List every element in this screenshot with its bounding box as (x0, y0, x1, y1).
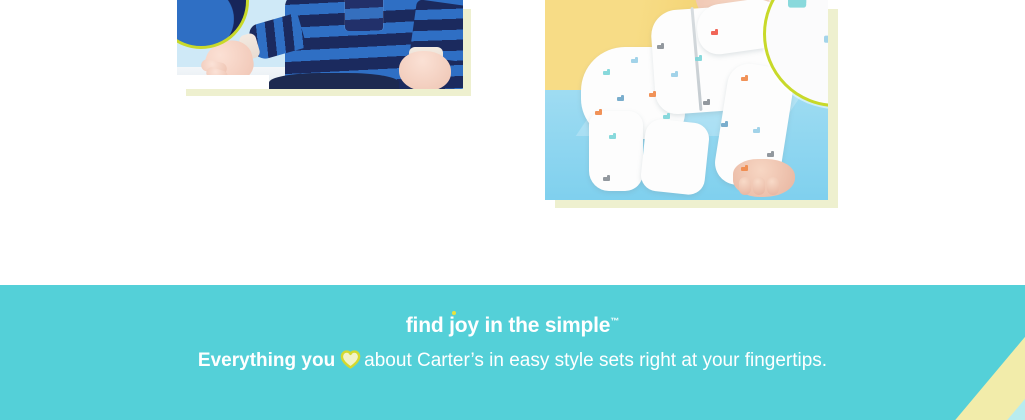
promo-headline: find joy in the simple™ (0, 315, 1025, 336)
baby-hand-right (399, 51, 451, 89)
trademark-symbol: ™ (610, 316, 619, 326)
llama-print-motif (671, 71, 678, 79)
promo-headline-j-letter: j (449, 314, 455, 337)
promo-subline-bold: Everything you (198, 350, 335, 371)
promo-headline-j: j (449, 314, 455, 337)
llama-print-motif (741, 165, 748, 173)
llama-print-motif (721, 121, 728, 129)
promo-subline-rest: about Carter’s in easy style sets right … (364, 350, 827, 371)
llama-print-motif (663, 113, 670, 121)
photo-llama-pajamas[interactable] (545, 0, 828, 200)
llama-print-motif (603, 69, 610, 77)
photo-striped-sweater[interactable] (177, 0, 463, 89)
llama-print-motif (753, 127, 760, 135)
pajama-leg-left (589, 111, 643, 191)
llama-print-motif (711, 29, 718, 37)
llama-print-motif (609, 133, 616, 141)
llama-print-motif (595, 109, 602, 117)
page-root: find joy in the simple™ Everything youab… (0, 0, 1025, 420)
llama-print-motif (617, 95, 624, 103)
llama-print-motif (703, 99, 710, 107)
promo-headline-prefix: find (406, 314, 449, 337)
sweater-pocket (345, 0, 383, 31)
promo-banner-content: find joy in the simple™ Everything youab… (0, 285, 1025, 373)
llama-print-motif (767, 151, 774, 159)
llama-print-motif (631, 57, 638, 65)
promo-subline: Everything youabout Carter’s in easy sty… (0, 350, 1025, 373)
llama-print-motif (824, 32, 828, 46)
promo-headline-suffix: oy in the simple (455, 314, 611, 337)
llama-print-motif (657, 43, 664, 51)
product-photo-collage (0, 0, 1025, 285)
photo-foreground-shadow (269, 73, 399, 89)
promo-banner: find joy in the simple™ Everything youab… (0, 285, 1025, 420)
pajama-leg-right (639, 118, 710, 196)
llama-print-motif (649, 91, 656, 99)
llama-print-motif (741, 75, 748, 83)
llama-print-motif (788, 0, 806, 13)
llama-print-motif (603, 175, 610, 183)
llama-print-motif (695, 55, 702, 63)
promo-headline-j-dot (452, 311, 456, 315)
heart-icon (340, 350, 361, 373)
photo-white-corner (177, 75, 269, 89)
